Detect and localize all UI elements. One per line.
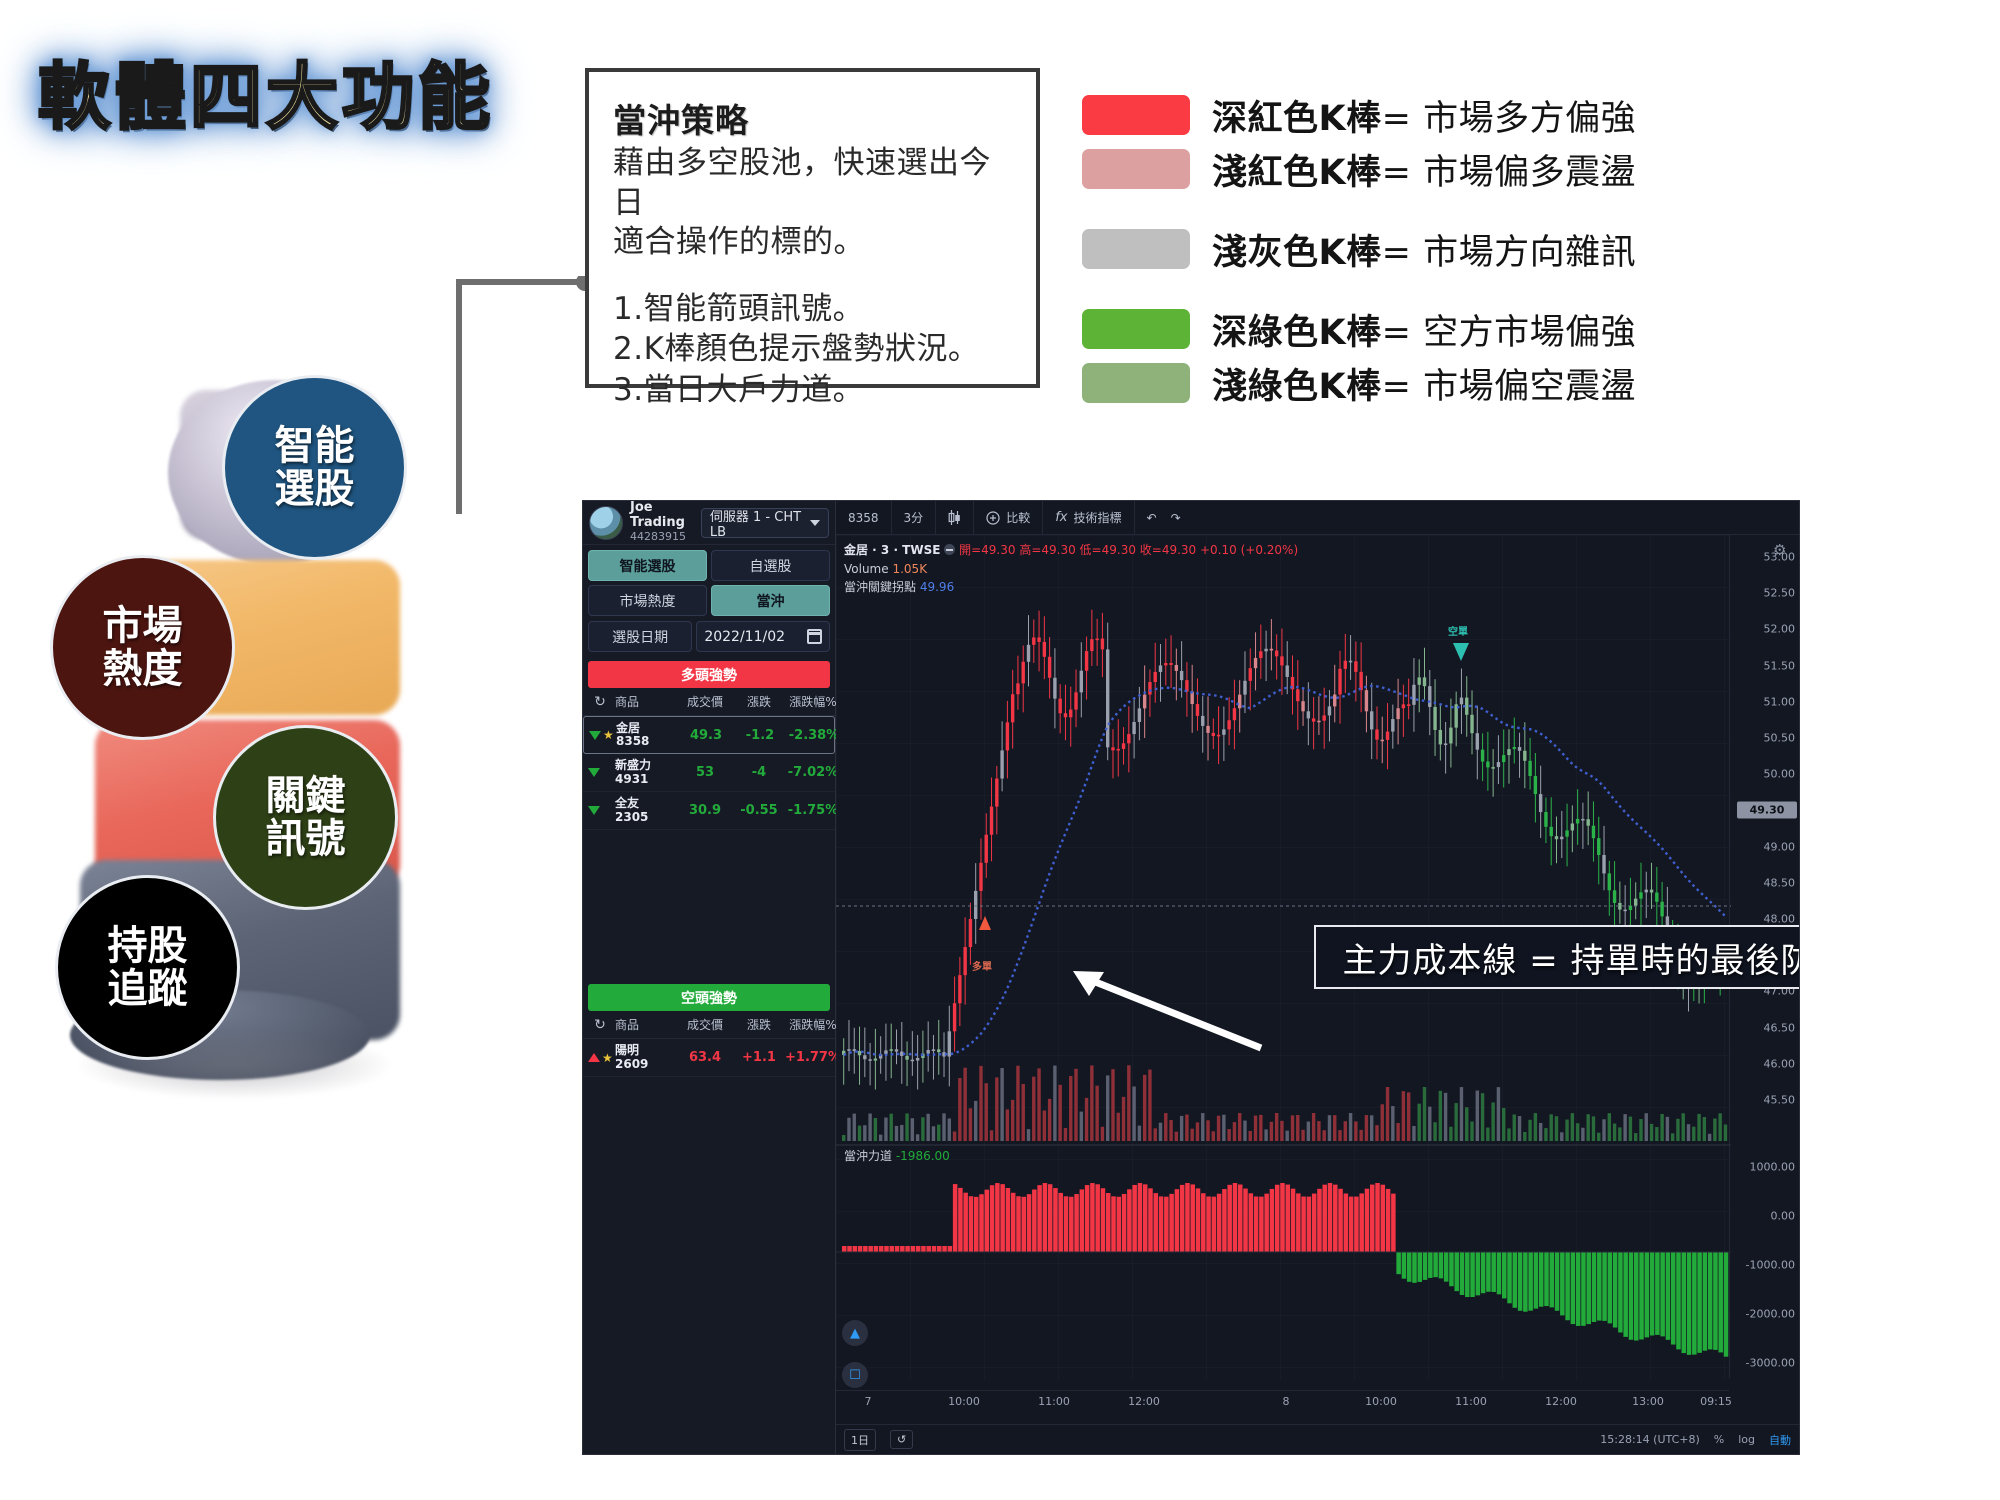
plus-circle-icon	[986, 511, 1000, 525]
feature-circle-smart-pick-line2: 選股	[275, 468, 355, 510]
date-picker-value: 2022/11/02	[704, 629, 785, 645]
trading-app-window: Joe Trading 44283915 伺服器 1 - CHT LB 智能選股…	[582, 500, 1800, 1455]
volume-label: Volume	[844, 562, 889, 576]
row-product: 全友 2305	[615, 797, 677, 824]
undo-redo-group[interactable]: ↶ ↷	[1135, 501, 1193, 535]
indicators-button[interactable]: fx 技術指標	[1043, 501, 1134, 535]
strategy-body-line1: 藉由多空股池，快速選出今日	[613, 144, 1016, 223]
stock-selection-panel: Joe Trading 44283915 伺服器 1 - CHT LB 智能選股…	[583, 501, 836, 1454]
legend-swatch-light-green	[1082, 363, 1190, 403]
chart-area: 8358 3分 比較	[836, 501, 1799, 1454]
chart-snapshot-icon[interactable]: ▲	[842, 1320, 868, 1346]
panel-tabs: 智能選股 自選股 市場熱度 當沖	[583, 545, 835, 616]
chart-ohlc: 開=49.30 高=49.30 低=49.30 收=49.30 +0.10 (+…	[959, 543, 1298, 557]
feature-circle-smart-pick-line1: 智能	[275, 425, 355, 467]
legend-swatch-dark-red	[1082, 95, 1190, 135]
row-product: 新盛力 4931	[615, 759, 677, 786]
price-tick: 46.50	[1764, 1021, 1796, 1034]
status-right-group: 15:28:14 (UTC+8) % log 自動	[1600, 1432, 1791, 1448]
feature-circle-holdings[interactable]: 持股 追蹤	[55, 875, 240, 1060]
table-row[interactable]: ★ 金居 8358 49.3 -1.2 -2.38%	[583, 716, 835, 754]
avatar	[589, 506, 623, 540]
time-tick: 13:00	[1632, 1395, 1664, 1408]
feature-circle-market-heat-line2: 熱度	[103, 648, 183, 690]
refresh-icon[interactable]: ↻	[585, 694, 615, 710]
row-change: -1.2	[734, 728, 786, 743]
short-table-header: ↻ 商品 成交價 漲跌 漲跌幅%	[583, 1011, 835, 1039]
power-tick: 1000.00	[1750, 1161, 1796, 1174]
legend-spacer-1	[1082, 196, 1782, 222]
row-pct: +1.77%	[785, 1050, 841, 1065]
fx-icon: fx	[1055, 510, 1067, 525]
feature-circle-market-heat-line1: 市場	[103, 605, 183, 647]
legend-meaning-dark-red: 市場多方偏強	[1423, 99, 1636, 139]
price-tick: 53.00	[1764, 551, 1796, 564]
legend-name-light-red: 淺紅色K棒	[1212, 153, 1382, 193]
time-tick: 8	[1283, 1395, 1290, 1408]
connector-line	[455, 276, 595, 516]
feature-circle-key-signal-line2: 訊號	[266, 818, 346, 860]
row-change: +1.1	[733, 1050, 785, 1065]
col-product-short: 商品	[615, 1016, 677, 1033]
eye-icon[interactable]	[944, 544, 955, 555]
row-markers: ★	[585, 1051, 615, 1065]
row-markers	[585, 768, 615, 777]
legend-item-light-green: 淺綠色K棒= 市場偏空震盪	[1082, 356, 1782, 410]
table-row[interactable]: ★ 陽明 2609 63.4 +1.1 +1.77%	[583, 1039, 835, 1077]
price-tick: 45.50	[1764, 1094, 1796, 1107]
legend-name-light-gray: 淺灰色K棒	[1212, 233, 1382, 273]
star-icon[interactable]: ★	[602, 1051, 613, 1065]
feature-circle-smart-pick[interactable]: 智能 選股	[222, 375, 407, 560]
clock-label: 15:28:14 (UTC+8)	[1600, 1433, 1700, 1446]
feature-circle-holdings-line1: 持股	[108, 925, 188, 967]
time-tick: 11:00	[1038, 1395, 1070, 1408]
row-product-name: 金居	[616, 722, 678, 735]
star-icon[interactable]: ★	[603, 728, 614, 742]
slide-canvas: 軟體四大功能 智能 選股 市場 熱度 關鍵 訊號 持股 追蹤	[0, 0, 2000, 1500]
page-title: 軟體四大功能	[38, 38, 494, 143]
row-pct: -2.38%	[786, 728, 842, 743]
power-tick: -2000.00	[1746, 1308, 1795, 1321]
interval-button[interactable]: 3分	[892, 501, 937, 535]
strategy-item-2: 2.K棒顏色提示盤勢狀況。	[613, 329, 1016, 369]
candle-color-legend: 深紅色K棒= 市場多方偏強 淺紅色K棒= 市場偏多震盪 淺灰色K棒= 市場方向雜…	[1082, 88, 1782, 410]
time-tick: 10:00	[948, 1395, 980, 1408]
row-price: 53	[677, 765, 733, 780]
col-price-long: 成交價	[677, 693, 733, 710]
legend-meaning-light-green: 市場偏空震盪	[1423, 367, 1636, 407]
short-marker-label: 空單	[1448, 623, 1468, 638]
chart-toolbar: 8358 3分 比較	[836, 501, 1799, 535]
legend-meaning-light-gray: 市場方向雜訊	[1423, 233, 1636, 273]
row-change: -0.55	[733, 803, 785, 818]
date-picker[interactable]: 2022/11/02	[696, 621, 830, 652]
date-row: 選股日期 2022/11/02	[583, 616, 835, 657]
price-tick: 48.50	[1764, 876, 1796, 889]
row-pct: -1.75%	[785, 803, 841, 818]
legend-eq-light-red: =	[1382, 153, 1412, 193]
chart-object-tree-icon[interactable]: ☐	[842, 1362, 868, 1388]
legend-item-light-gray: 淺灰色K棒= 市場方向雜訊	[1082, 222, 1782, 276]
triangle-down-icon	[589, 731, 601, 740]
calendar-icon	[807, 629, 822, 644]
cost-line-callout: 主力成本線 = 持單時的最後防守點	[1314, 925, 1800, 989]
legend-label-light-red: 淺紅色K棒= 市場偏多震盪	[1212, 144, 1636, 195]
row-product-code: 2305	[615, 811, 677, 824]
row-product: 陽明 2609	[615, 1044, 677, 1071]
feature-circle-market-heat[interactable]: 市場 熱度	[50, 555, 235, 740]
time-tick: 12:00	[1128, 1395, 1160, 1408]
redo-icon[interactable]: ↷	[1171, 511, 1181, 525]
legend-meaning-dark-green: 空方市場偏強	[1423, 313, 1636, 353]
legend-label-dark-green: 深綠色K棒= 空方市場偏強	[1212, 304, 1636, 355]
strategy-heading: 當沖策略	[613, 94, 1016, 142]
row-price: 49.3	[678, 728, 734, 743]
long-table-header: ↻ 商品 成交價 漲跌 漲跌幅%	[583, 688, 835, 716]
table-row[interactable]: 全友 2305 30.9 -0.55 -1.75%	[583, 792, 835, 830]
legend-swatch-light-gray	[1082, 229, 1190, 269]
account-name: Joe Trading	[630, 501, 701, 531]
legend-meaning-light-red: 市場偏多震盪	[1423, 153, 1636, 193]
legend-name-light-green: 淺綠色K棒	[1212, 367, 1382, 407]
col-change-long: 漲跌	[733, 693, 785, 710]
time-tick: 7	[865, 1395, 872, 1408]
symbol-button[interactable]: 8358	[836, 501, 892, 535]
legend-item-dark-red: 深紅色K棒= 市場多方偏強	[1082, 88, 1782, 142]
time-tick: 09:15	[1700, 1395, 1732, 1408]
power-legend-line: 當沖力道 -1986.00	[844, 1147, 950, 1166]
col-change-short: 漲跌	[733, 1016, 785, 1033]
price-tick: 51.50	[1764, 659, 1796, 672]
undo-icon[interactable]: ↶	[1147, 511, 1157, 525]
price-tick: 50.50	[1764, 732, 1796, 745]
legend-eq-dark-red: =	[1382, 99, 1412, 139]
legend-eq-dark-green: =	[1382, 313, 1412, 353]
log-scale-button[interactable]: log	[1738, 1433, 1755, 1446]
feature-circle-key-signal[interactable]: 關鍵 訊號	[213, 725, 398, 910]
row-markers	[585, 806, 615, 815]
col-pct-long: 漲跌幅%	[785, 693, 841, 710]
legend-eq-light-green: =	[1382, 367, 1412, 407]
long-list-empty-space	[583, 830, 835, 980]
chart-symbol: 金居 · 3 · TWSE	[844, 543, 940, 557]
triangle-down-icon	[588, 768, 600, 777]
row-product: 金居 8358	[616, 722, 678, 749]
row-product-name: 全友	[615, 797, 677, 810]
candlestick-icon	[948, 510, 961, 525]
legend-spacer-2	[1082, 276, 1782, 302]
time-axis[interactable]: 710:0011:0012:00810:0011:0012:0013:0009:…	[836, 1390, 1729, 1412]
legend-label-light-green: 淺綠色K棒= 市場偏空震盪	[1212, 358, 1636, 409]
price-tick: 49.00	[1764, 840, 1796, 853]
compare-button[interactable]: 比較	[974, 501, 1043, 535]
chart-legend: 金居 · 3 · TWSE 開=49.30 高=49.30 低=49.30 收=…	[844, 541, 1298, 597]
strategy-body-line2: 適合操作的標的。	[613, 223, 1016, 263]
legend-swatch-light-red	[1082, 149, 1190, 189]
long-strength-band: 多頭強勢	[588, 661, 830, 688]
server-select-label: 伺服器 1 - CHT LB	[710, 506, 804, 540]
power-tick: 0.00	[1771, 1210, 1796, 1223]
col-price-short: 成交價	[677, 1016, 733, 1033]
legend-label-light-gray: 淺灰色K棒= 市場方向雜訊	[1212, 224, 1636, 275]
tab-smart-pick[interactable]: 智能選股	[588, 550, 707, 581]
server-select[interactable]: 伺服器 1 - CHT LB	[701, 508, 829, 538]
power-value: -1986.00	[896, 1149, 950, 1163]
pivot-label: 當沖關鍵拐點	[844, 580, 916, 594]
power-tick: -3000.00	[1746, 1357, 1795, 1370]
long-marker-label: 多單	[972, 958, 992, 973]
legend-swatch-dark-green	[1082, 309, 1190, 349]
chart-status-bar: 1日 ↺ 15:28:14 (UTC+8) % log 自動	[836, 1424, 1799, 1454]
pivot-value: 49.96	[920, 580, 954, 594]
row-price: 30.9	[677, 803, 733, 818]
account-id: 44283915	[630, 531, 701, 544]
power-tick: -1000.00	[1746, 1259, 1795, 1272]
row-change: -4	[733, 765, 785, 780]
account-bar: Joe Trading 44283915 伺服器 1 - CHT LB	[583, 501, 835, 545]
triangle-down-icon	[588, 806, 600, 815]
price-tick: 52.00	[1764, 623, 1796, 636]
col-product-long: 商品	[615, 693, 677, 710]
table-row[interactable]: 新盛力 4931 53 -4 -7.02%	[583, 754, 835, 792]
legend-name-dark-red: 深紅色K棒	[1212, 99, 1382, 139]
power-label: 當沖力道	[844, 1149, 892, 1163]
strategy-item-3: 3.當日大戶力道。	[613, 370, 1016, 410]
indicators-label: 技術指標	[1073, 509, 1121, 526]
price-tick: 48.00	[1764, 913, 1796, 926]
strategy-item-1: 1.智能箭頭訊號。	[613, 289, 1016, 329]
chevron-down-icon	[810, 520, 820, 526]
row-product-name: 陽明	[615, 1044, 677, 1057]
legend-label-dark-red: 深紅色K棒= 市場多方偏強	[1212, 90, 1636, 141]
feature-circle-key-signal-line1: 關鍵	[266, 775, 346, 817]
row-markers: ★	[586, 728, 616, 742]
compare-label: 比較	[1006, 509, 1030, 526]
chart-legend-symbol-line: 金居 · 3 · TWSE 開=49.30 高=49.30 低=49.30 收=…	[844, 541, 1298, 560]
price-tick: 46.00	[1764, 1057, 1796, 1070]
legend-name-dark-green: 深綠色K棒	[1212, 313, 1382, 353]
candle-style-button[interactable]	[936, 501, 974, 535]
tab-day-trade[interactable]: 當沖	[711, 585, 830, 616]
row-product-code: 2609	[615, 1058, 677, 1071]
row-price: 63.4	[677, 1050, 733, 1065]
legend-eq-light-gray: =	[1382, 233, 1412, 273]
triangle-up-icon	[588, 1053, 600, 1062]
col-pct-short: 漲跌幅%	[785, 1016, 841, 1033]
row-product-code: 4931	[615, 773, 677, 786]
chart-pivot-line: 當沖關鍵拐點 49.96	[844, 578, 1298, 597]
legend-item-dark-green: 深綠色K棒= 空方市場偏強	[1082, 302, 1782, 356]
timeframe-button[interactable]: 1日	[844, 1429, 876, 1451]
time-tick: 12:00	[1545, 1395, 1577, 1408]
tab-watchlist[interactable]: 自選股	[711, 550, 830, 581]
strategy-textbox: 當沖策略 藉由多空股池，快速選出今日 適合操作的標的。 1.智能箭頭訊號。 2.…	[585, 68, 1040, 388]
volume-value: 1.05K	[892, 562, 927, 576]
reset-chart-button[interactable]: ↺	[890, 1430, 913, 1449]
chart-volume-line: Volume 1.05K	[844, 560, 1298, 579]
price-tick: 50.00	[1764, 768, 1796, 781]
row-product-code: 8358	[616, 735, 678, 748]
auto-scale-button[interactable]: 自動	[1769, 1432, 1791, 1448]
refresh-icon[interactable]: ↻	[585, 1017, 615, 1033]
row-pct: -7.02%	[785, 765, 841, 780]
price-tick: 51.00	[1764, 695, 1796, 708]
percent-scale-button[interactable]: %	[1714, 1433, 1724, 1446]
price-tick: 52.50	[1764, 587, 1796, 600]
time-tick: 10:00	[1365, 1395, 1397, 1408]
time-tick: 11:00	[1455, 1395, 1487, 1408]
feature-circle-holdings-line2: 追蹤	[108, 968, 188, 1010]
current-price-badge: 49.30	[1737, 802, 1797, 819]
short-strength-band: 空頭強勢	[588, 984, 830, 1011]
feature-stack-graphic: 智能 選股 市場 熱度 關鍵 訊號 持股 追蹤	[40, 390, 480, 1130]
legend-item-light-red: 淺紅色K棒= 市場偏多震盪	[1082, 142, 1782, 196]
tab-market-heat[interactable]: 市場熱度	[588, 585, 707, 616]
row-product-name: 新盛力	[615, 759, 677, 772]
date-label: 選股日期	[588, 621, 692, 652]
